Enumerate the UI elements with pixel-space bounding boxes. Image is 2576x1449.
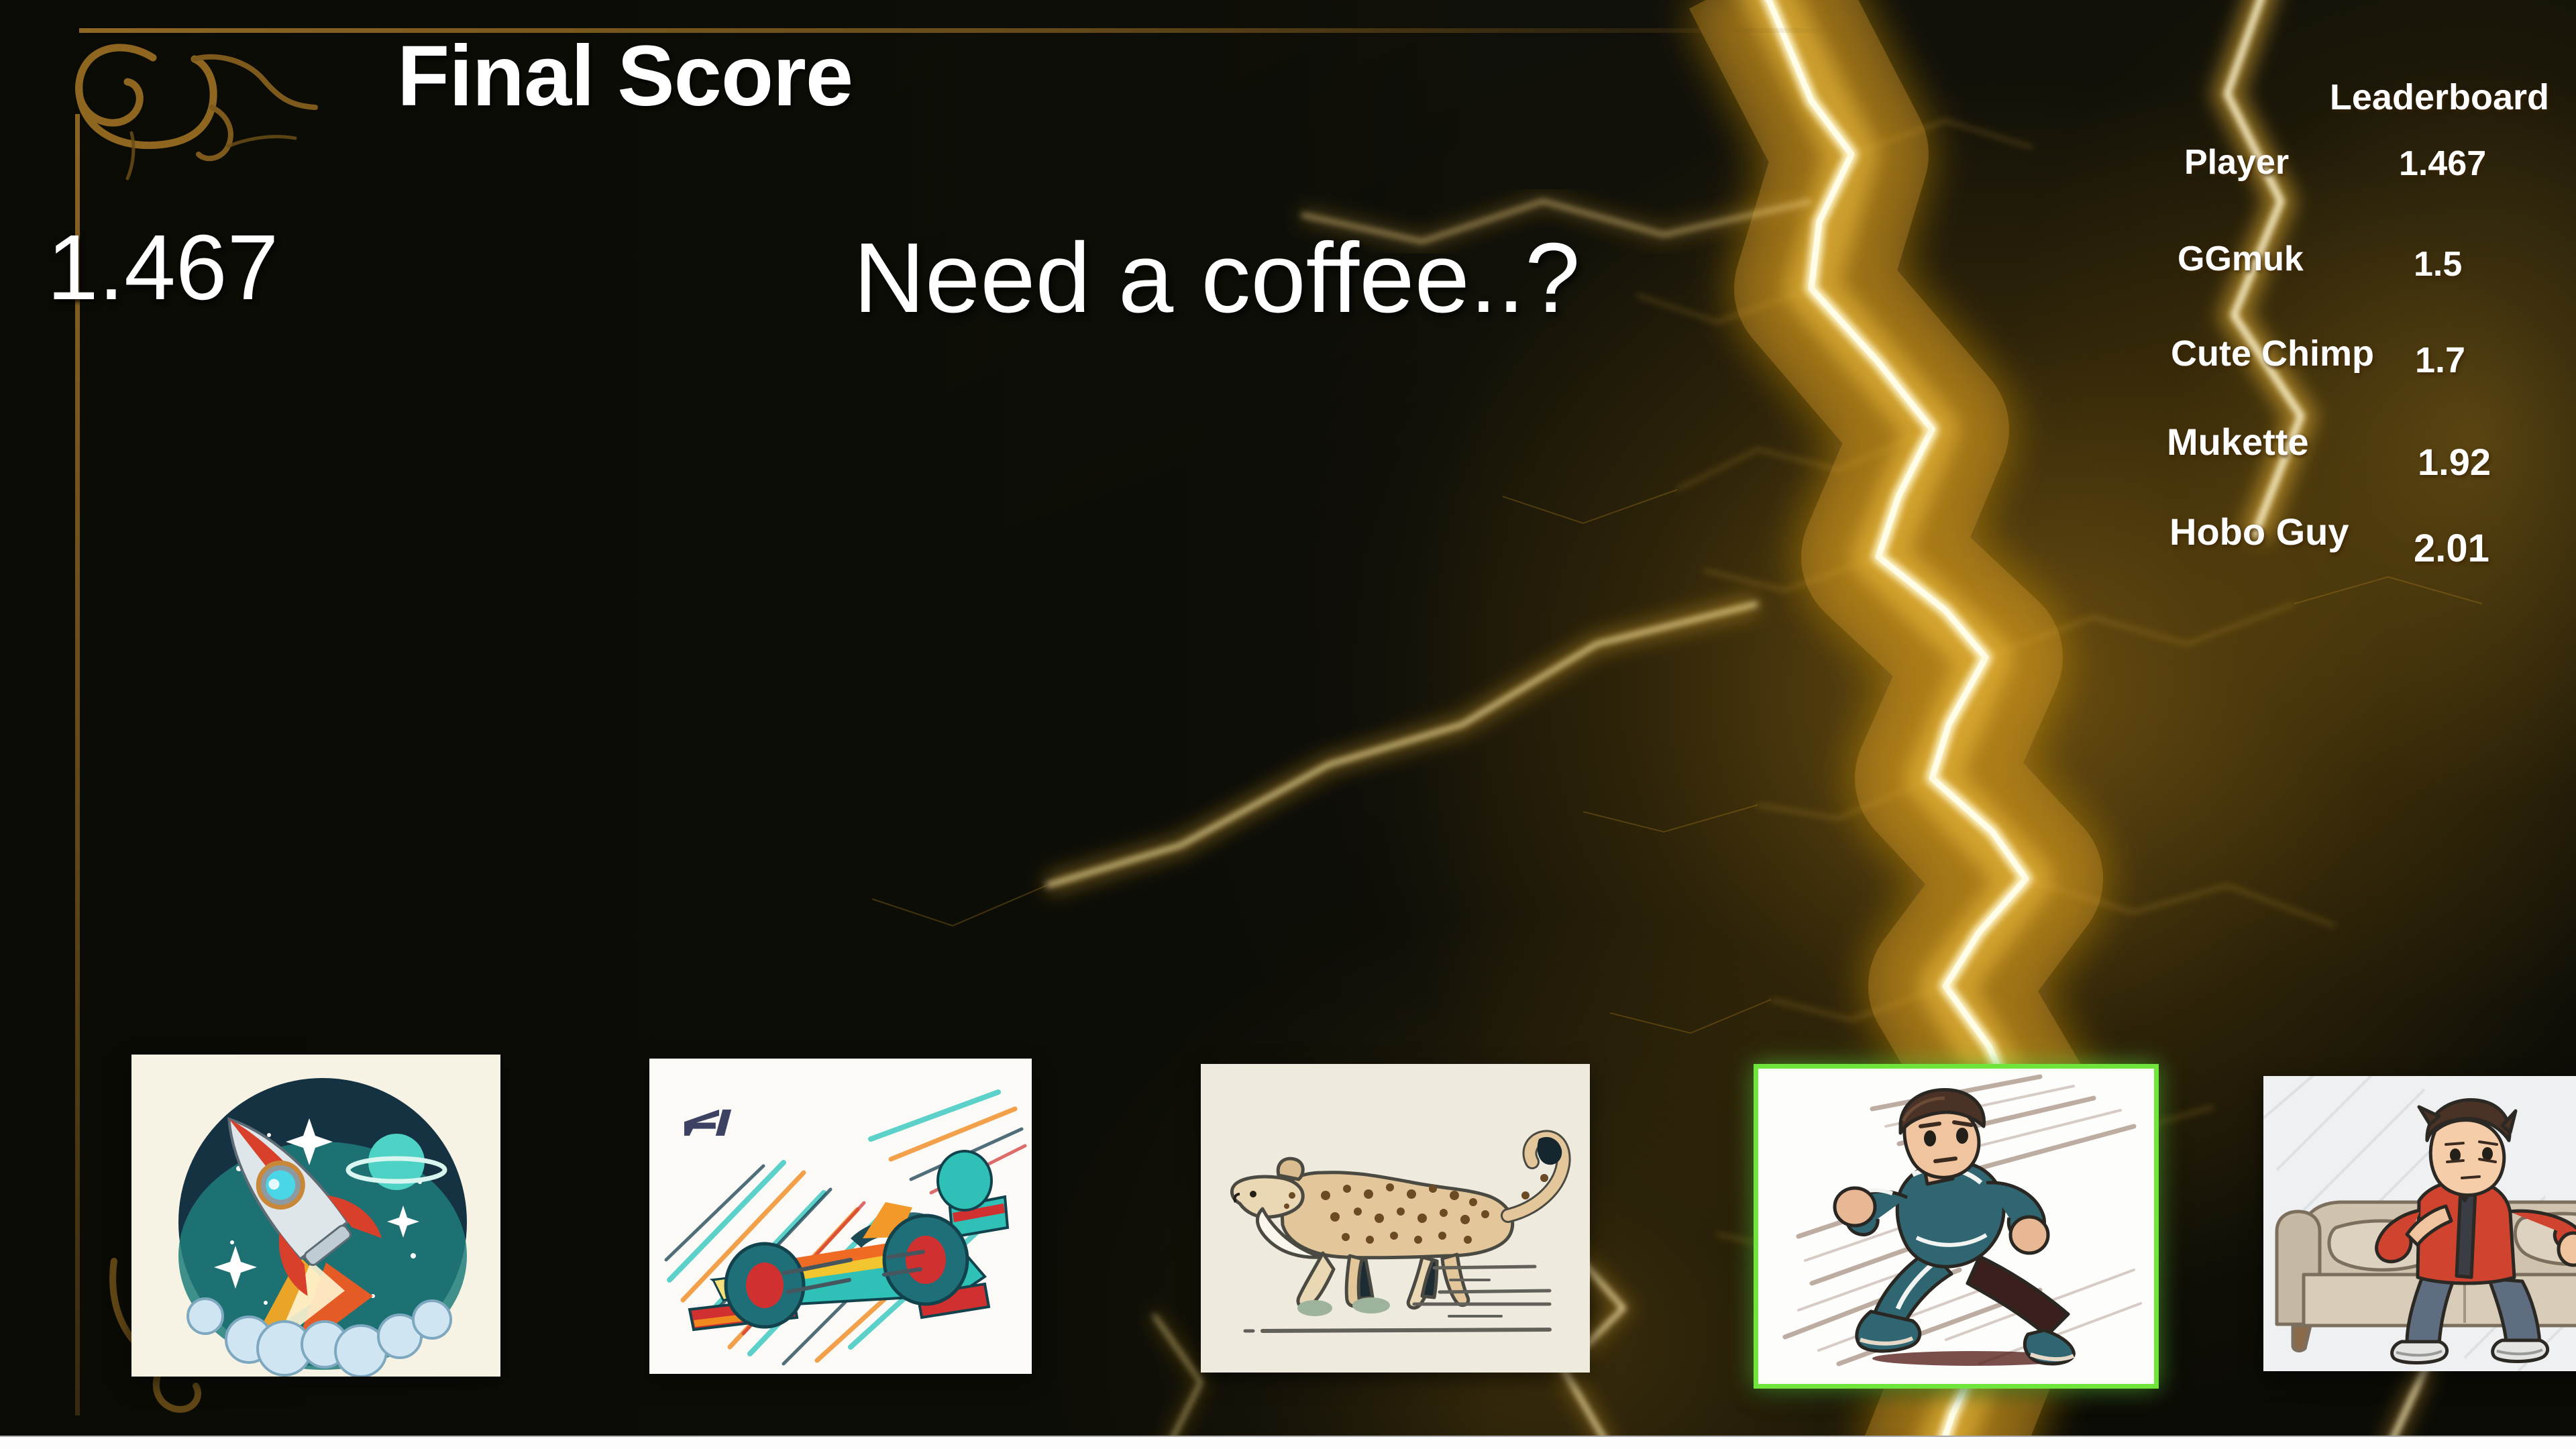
rocket-icon [131,1055,500,1377]
leaderboard-panel: Leaderboard Player 1.467 GGmuk 1.5 Cute … [2026,67,2563,644]
cheetah-icon [1201,1064,1590,1373]
running-man-icon [1758,1069,2154,1384]
tier-card-rocket[interactable] [131,1055,500,1377]
leaderboard-row-score: 1.467 [2399,144,2486,184]
leaderboard-row-name: Cute Chimp [2171,333,2374,374]
leaderboard-row-name: Mukette [2167,420,2309,464]
tier-card-couch-potato[interactable] [2263,1076,2576,1371]
leaderboard-row-score: 2.01 [2414,526,2489,571]
page-title: Final Score [397,27,853,125]
leaderboard-row: Player 1.467 [2026,142,2563,189]
leaderboard-row-score: 1.7 [2415,339,2465,381]
leaderboard-row: GGmuk 1.5 [2026,239,2563,286]
leaderboard-row-name: Hobo Guy [2169,510,2349,553]
final-score-value: 1.467 [47,215,278,321]
leaderboard-row-score: 1.5 [2414,244,2462,284]
race-car-icon [649,1059,1032,1374]
verdict-message: Need a coffee..? [853,221,1580,335]
bottom-white-strip [0,1436,2576,1449]
leaderboard-row: Hobo Guy 2.01 [2026,510,2563,557]
tier-card-f1-car[interactable] [649,1059,1032,1374]
leaderboard-row-score: 1.92 [2418,440,2491,484]
final-score-screen: Final Score 1.467 Need a coffee..? Leade… [0,0,2576,1449]
corner-flourish-icon [27,0,322,221]
leaderboard-row: Cute Chimp 1.7 [2026,333,2563,380]
leaderboard-title: Leaderboard [2330,76,2549,118]
leaderboard-row-name: Player [2184,142,2289,182]
tier-card-cheetah[interactable] [1201,1064,1590,1373]
tier-card-runner[interactable] [1754,1064,2159,1389]
couch-potato-icon [2263,1076,2576,1371]
frame-top-rule [79,28,1890,33]
leaderboard-row-name: GGmuk [2178,239,2304,279]
leaderboard-row: Mukette 1.92 [2026,420,2563,467]
